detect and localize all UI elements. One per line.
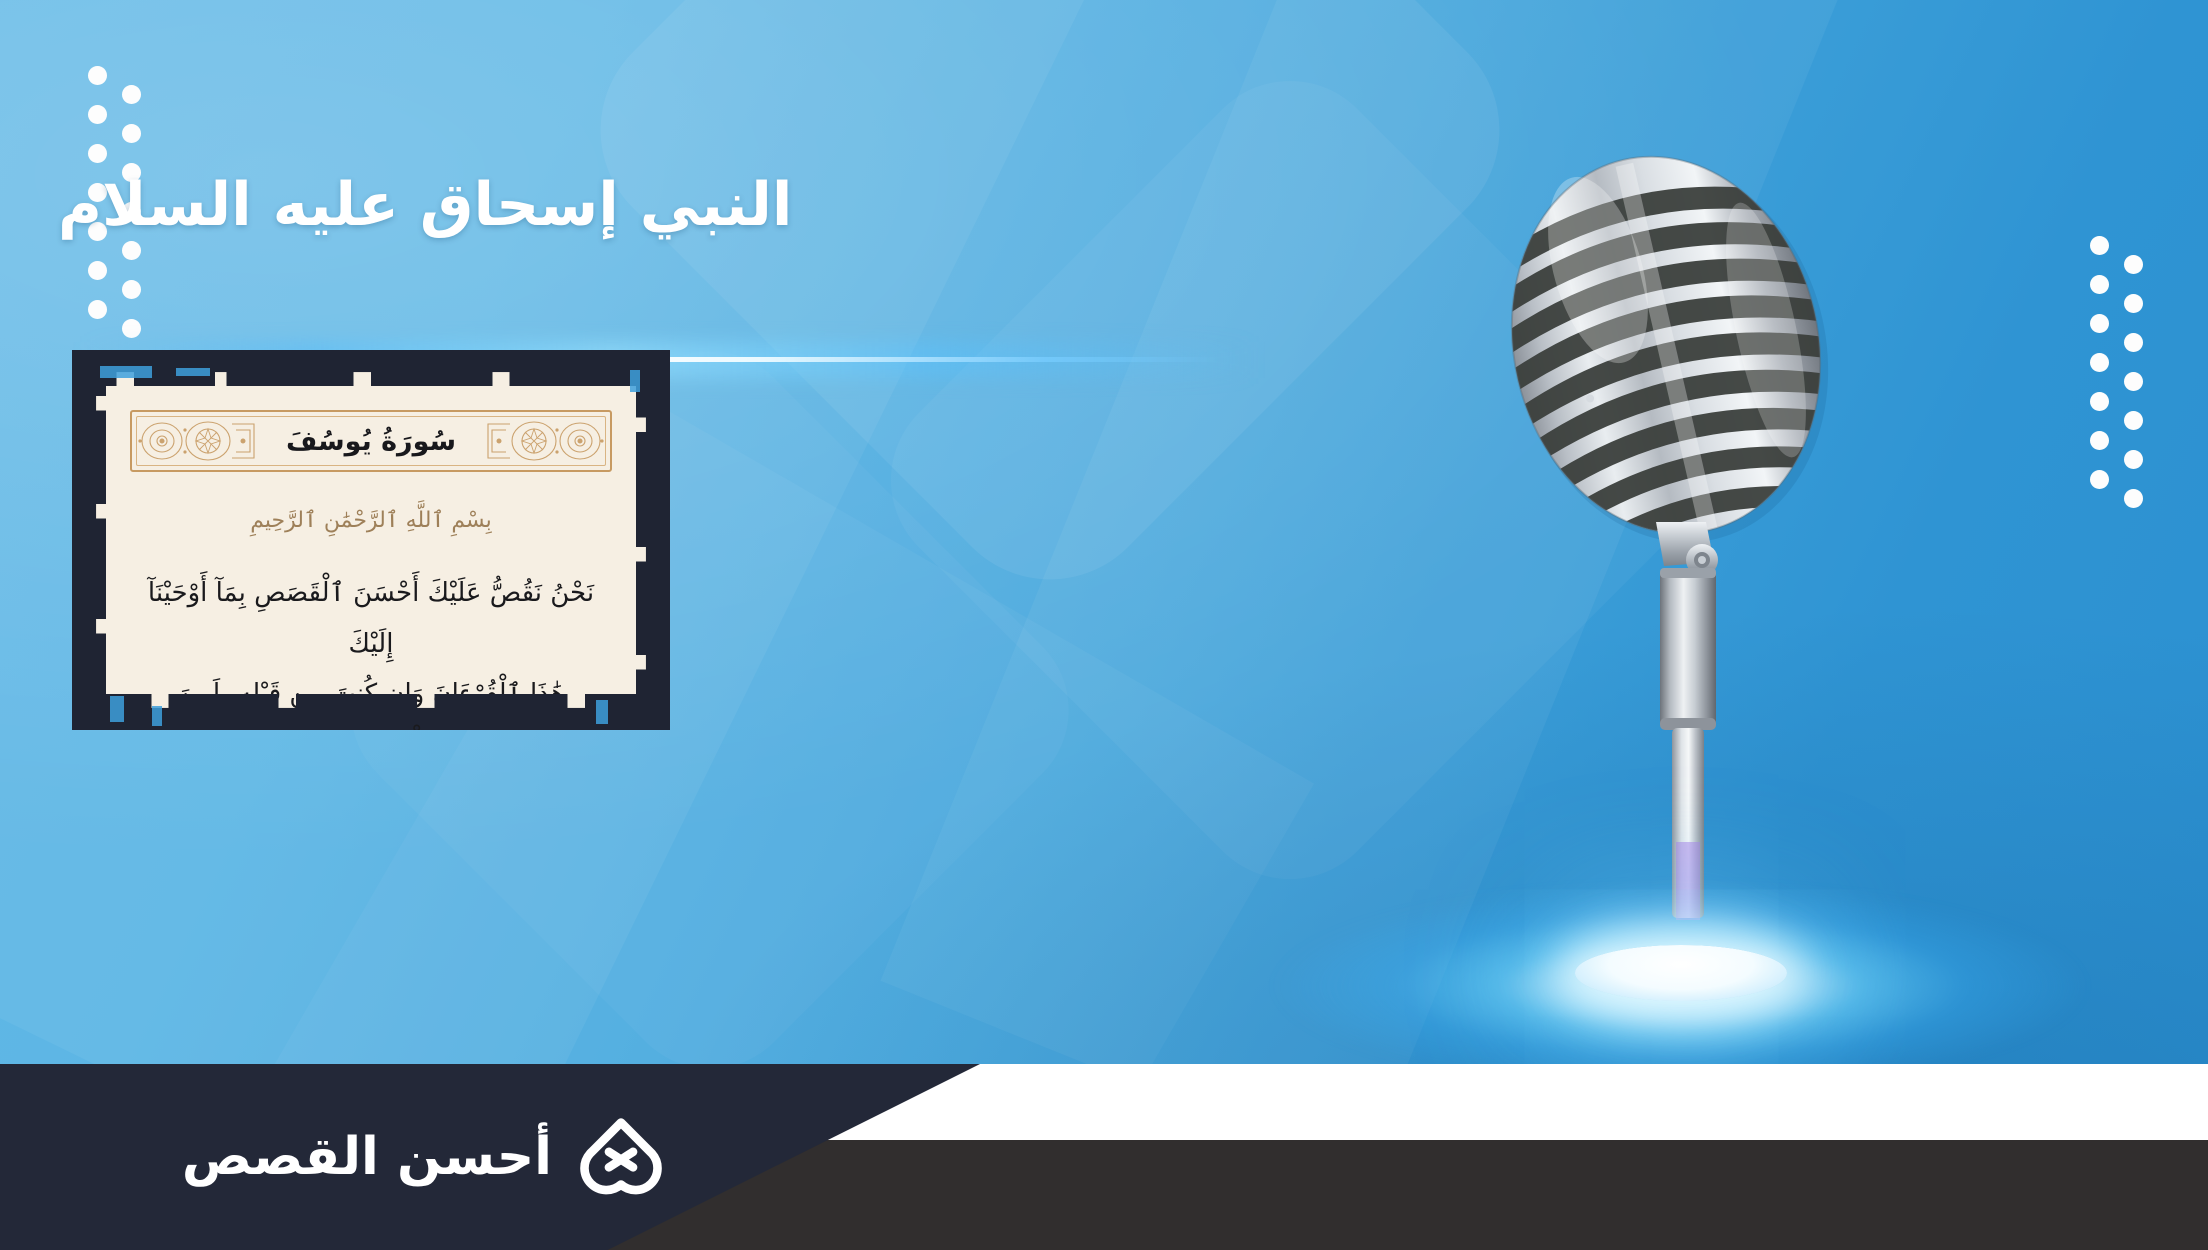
quran-paper: سُورَةُ يُوسُفَ — [96, 372, 646, 708]
retro-microphone-icon — [1470, 130, 1910, 950]
decor-dot — [2090, 392, 2109, 411]
mic-stem-upper — [1660, 568, 1716, 728]
decor-dot — [88, 144, 107, 163]
page-title: النبي إسحاق عليه السلام — [58, 168, 818, 243]
footer-bar: أحسن القصص — [0, 1064, 2208, 1250]
decor-dot — [88, 105, 107, 124]
ayah-text: نَحْنُ نَقُصُّ عَلَيْكَ أَحْسَنَ ٱلْقَصَ… — [136, 568, 606, 730]
dot-grid-right — [2090, 236, 2160, 506]
decor-dot — [88, 66, 107, 85]
footer-brand: أحسن القصص — [0, 1064, 720, 1250]
ornament-right-icon — [484, 416, 606, 466]
decor-dot — [2090, 470, 2109, 489]
decor-dot — [2124, 411, 2143, 430]
ahsan-alqasas-teardrop-logo-icon — [578, 1114, 664, 1200]
decor-dot — [2090, 431, 2109, 450]
ayah-line-2-text: هَٰذَا ٱلْقُرْءَانَ وَإِن كُنتَ مِن قَبْ… — [177, 679, 564, 730]
brand-name-label: أحسن القصص — [182, 1127, 552, 1187]
decor-dot — [122, 124, 141, 143]
basmala-text: بِسْمِ ٱللَّهِ ٱلرَّحْمَٰنِ ٱلرَّحِيمِ — [96, 508, 646, 533]
decor-dot — [2124, 255, 2143, 274]
decor-dot — [2124, 294, 2143, 313]
decor-dot — [122, 319, 141, 338]
mic-base-disc — [1575, 945, 1787, 1001]
decor-dot — [122, 85, 141, 104]
slide-canvas: النبي إسحاق عليه السلام — [0, 0, 2208, 1250]
decor-dot — [2124, 489, 2143, 508]
decor-dot — [88, 300, 107, 319]
surah-header-band: سُورَةُ يُوسُفَ — [130, 410, 612, 472]
ayah-line-1: نَحْنُ نَقُصُّ عَلَيْكَ أَحْسَنَ ٱلْقَصَ… — [136, 568, 606, 669]
quran-verse-card: سُورَةُ يُوسُفَ — [72, 350, 670, 730]
decor-dot — [122, 280, 141, 299]
decor-dot — [2090, 314, 2109, 333]
decor-dot — [2124, 372, 2143, 391]
surah-name-label: سُورَةُ يُوسُفَ — [286, 426, 456, 457]
decor-dot — [2090, 236, 2109, 255]
decor-dot — [2090, 353, 2109, 372]
retro-microphone — [1470, 130, 1910, 950]
decor-dot — [88, 261, 107, 280]
decor-dot — [2124, 450, 2143, 469]
decor-dot — [2124, 333, 2143, 352]
decor-dot — [122, 241, 141, 260]
decor-dot — [2090, 275, 2109, 294]
ayah-line-2: هَٰذَا ٱلْقُرْءَانَ وَإِن كُنتَ مِن قَبْ… — [136, 669, 606, 730]
mic-stem-glow — [1676, 842, 1700, 920]
ornament-left-icon — [136, 416, 258, 466]
